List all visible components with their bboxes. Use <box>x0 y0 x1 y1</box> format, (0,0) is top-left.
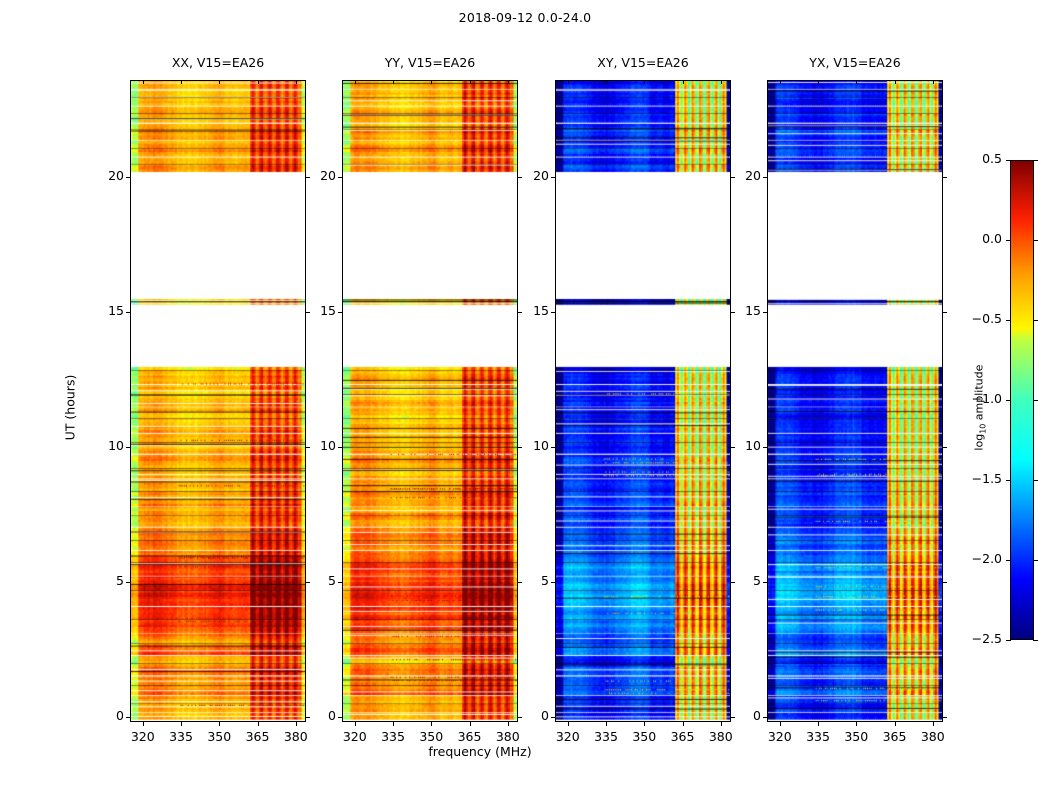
y-tick-mark <box>551 717 556 718</box>
x-tick-label: 380 <box>271 729 321 744</box>
y-tick-label: 10 <box>82 438 124 453</box>
y-tick-label: 10 <box>719 438 761 453</box>
colorbar-tick-mark <box>1006 240 1011 241</box>
x-tick-mark <box>644 80 645 84</box>
y-tick-label: 0 <box>82 708 124 723</box>
y-tick-mark <box>338 177 343 178</box>
y-tick-label: 0 <box>719 708 761 723</box>
colorbar-tick-mark <box>1033 640 1038 641</box>
heatmap-panel-xx[interactable] <box>130 80 306 722</box>
x-tick-mark <box>508 722 509 726</box>
x-tick-mark <box>181 722 182 726</box>
x-tick-mark <box>355 80 356 84</box>
waterfall-image-yx <box>768 81 943 722</box>
x-tick-label: 380 <box>483 729 533 744</box>
y-tick-mark <box>763 582 768 583</box>
x-tick-mark <box>143 80 144 84</box>
panel-title-yy: YY, V15=EA26 <box>342 55 518 70</box>
colorbar-tick-mark <box>1006 320 1011 321</box>
y-tick-label: 0 <box>507 708 549 723</box>
x-tick-mark <box>355 722 356 726</box>
y-tick-mark <box>942 312 947 313</box>
x-tick-mark <box>780 722 781 726</box>
x-tick-mark <box>933 722 934 726</box>
x-tick-mark <box>721 80 722 84</box>
y-tick-label: 20 <box>82 168 124 183</box>
colorbar-tick-mark <box>1033 560 1038 561</box>
x-tick-mark <box>568 80 569 84</box>
y-tick-mark <box>126 447 131 448</box>
y-tick-mark <box>763 177 768 178</box>
y-tick-label: 5 <box>82 573 124 588</box>
figure-suptitle: 2018-09-12 0.0-24.0 <box>0 10 1050 25</box>
x-tick-mark <box>895 80 896 84</box>
colorbar-tick-mark <box>1006 640 1011 641</box>
colorbar-tick-label: 0.0 <box>950 231 1002 246</box>
x-tick-mark <box>568 722 569 726</box>
panel-title-xy: XY, V15=EA26 <box>555 55 731 70</box>
y-tick-mark <box>763 447 768 448</box>
x-tick-label: 380 <box>908 729 958 744</box>
y-tick-mark <box>942 717 947 718</box>
y-tick-mark <box>551 312 556 313</box>
x-tick-mark <box>296 80 297 84</box>
waterfall-image-xx <box>131 81 306 722</box>
heatmap-panel-yx[interactable] <box>767 80 943 722</box>
x-tick-mark <box>470 80 471 84</box>
heatmap-panel-yy[interactable] <box>342 80 518 722</box>
x-tick-mark <box>258 722 259 726</box>
y-tick-label: 10 <box>294 438 336 453</box>
y-tick-mark <box>942 177 947 178</box>
colorbar <box>1010 160 1034 640</box>
y-tick-mark <box>942 447 947 448</box>
x-tick-mark <box>683 722 684 726</box>
y-tick-label: 20 <box>294 168 336 183</box>
y-tick-mark <box>763 717 768 718</box>
x-tick-mark <box>818 80 819 84</box>
y-tick-mark <box>338 312 343 313</box>
colorbar-tick-mark <box>1033 400 1038 401</box>
y-tick-label: 20 <box>507 168 549 183</box>
x-tick-mark <box>780 80 781 84</box>
x-tick-mark <box>606 722 607 726</box>
y-tick-mark <box>551 582 556 583</box>
waterfall-image-yy <box>343 81 518 722</box>
y-tick-mark <box>126 177 131 178</box>
colorbar-label: log10 amplitude <box>972 328 987 488</box>
y-tick-label: 5 <box>507 573 549 588</box>
x-tick-mark <box>296 722 297 726</box>
x-tick-label: 380 <box>696 729 746 744</box>
colorbar-gradient <box>1011 161 1033 639</box>
x-tick-mark <box>258 80 259 84</box>
y-axis-label: UT (hours) <box>63 328 78 488</box>
x-tick-mark <box>431 722 432 726</box>
colorbar-tick-mark <box>1033 320 1038 321</box>
y-tick-label: 15 <box>82 303 124 318</box>
colorbar-tick-label: 0.5 <box>950 151 1002 166</box>
y-tick-label: 15 <box>294 303 336 318</box>
colorbar-tick-mark <box>1006 560 1011 561</box>
x-axis-label: frequency (MHz) <box>330 744 630 759</box>
x-tick-mark <box>219 80 220 84</box>
x-tick-mark <box>644 722 645 726</box>
x-tick-mark <box>470 722 471 726</box>
colorbar-tick-label: −0.5 <box>950 311 1002 326</box>
x-tick-mark <box>895 722 896 726</box>
x-tick-mark <box>219 722 220 726</box>
y-tick-label: 15 <box>719 303 761 318</box>
y-tick-mark <box>126 312 131 313</box>
x-tick-mark <box>818 722 819 726</box>
x-tick-mark <box>856 80 857 84</box>
y-tick-mark <box>338 447 343 448</box>
colorbar-tick-label: −1.5 <box>950 471 1002 486</box>
x-tick-mark <box>856 722 857 726</box>
x-tick-mark <box>606 80 607 84</box>
y-tick-mark <box>338 582 343 583</box>
x-tick-mark <box>431 80 432 84</box>
y-tick-mark <box>338 717 343 718</box>
y-tick-label: 5 <box>719 573 761 588</box>
colorbar-tick-mark <box>1006 400 1011 401</box>
y-tick-label: 5 <box>294 573 336 588</box>
colorbar-tick-mark <box>1033 160 1038 161</box>
colorbar-tick-mark <box>1006 480 1011 481</box>
y-tick-mark <box>126 717 131 718</box>
y-tick-mark <box>942 582 947 583</box>
heatmap-panel-xy[interactable] <box>555 80 731 722</box>
x-tick-mark <box>721 722 722 726</box>
panel-title-yx: YX, V15=EA26 <box>767 55 943 70</box>
colorbar-tick-label: −1.0 <box>950 391 1002 406</box>
y-tick-mark <box>763 312 768 313</box>
y-tick-mark <box>551 447 556 448</box>
panel-title-xx: XX, V15=EA26 <box>130 55 306 70</box>
waterfall-image-xy <box>556 81 731 722</box>
y-tick-label: 15 <box>507 303 549 318</box>
x-tick-mark <box>393 722 394 726</box>
y-tick-mark <box>126 582 131 583</box>
x-tick-mark <box>683 80 684 84</box>
colorbar-tick-mark <box>1006 160 1011 161</box>
y-tick-label: 20 <box>719 168 761 183</box>
y-tick-mark <box>551 177 556 178</box>
y-tick-label: 0 <box>294 708 336 723</box>
colorbar-tick-mark <box>1033 480 1038 481</box>
colorbar-tick-label: −2.5 <box>950 631 1002 646</box>
colorbar-tick-label: −2.0 <box>950 551 1002 566</box>
x-tick-mark <box>933 80 934 84</box>
x-tick-mark <box>181 80 182 84</box>
x-tick-mark <box>143 722 144 726</box>
x-tick-mark <box>393 80 394 84</box>
colorbar-tick-mark <box>1033 240 1038 241</box>
x-tick-mark <box>508 80 509 84</box>
y-tick-label: 10 <box>507 438 549 453</box>
figure-canvas: 2018-09-12 0.0-24.0 frequency (MHz) UT (… <box>0 0 1050 800</box>
